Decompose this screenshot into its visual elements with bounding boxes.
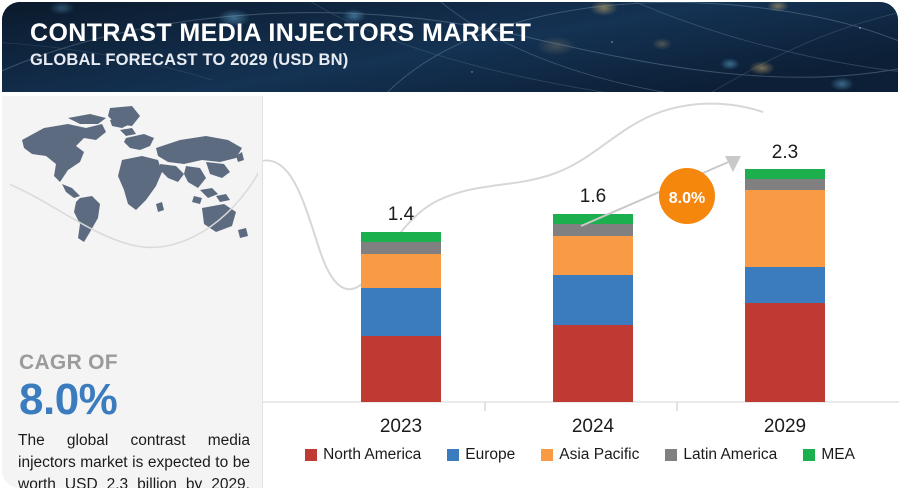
axis-label-2024: 2024 [572,416,615,437]
legend-swatch-latin-america [665,449,677,461]
bar-segment-asia-pacific-2029[interactable] [745,190,825,267]
cagr-value: 8.0% [19,378,117,422]
legend-item-asia-pacific[interactable]: Asia Pacific [541,446,639,464]
chart-panel: 1.4 2023 1.6 2024 2.3 2029 [262,96,899,488]
legend-label-europe: Europe [465,446,515,464]
bar-segment-mea-2023[interactable] [361,232,441,242]
bar-segment-asia-pacific-2023[interactable] [361,254,441,288]
bar-group-2023[interactable] [361,232,441,402]
world-map-icon [10,104,258,249]
bar-total-2029: 2.3 [772,142,798,163]
page-subtitle: GLOBAL FORECAST TO 2029 (USD BN) [30,51,531,70]
bar-segment-north-america-2023[interactable] [361,336,441,402]
bar-segment-north-america-2029[interactable] [745,303,825,402]
bar-total-2024: 1.6 [580,186,606,207]
bar-segment-latin-america-2029[interactable] [745,179,825,190]
chart-legend: North America Europe Asia Pacific Latin … [262,440,898,470]
bar-segment-asia-pacific-2024[interactable] [553,236,633,275]
legend-swatch-asia-pacific [541,449,553,461]
legend-item-latin-america[interactable]: Latin America [665,446,777,464]
legend-label-north-america: North America [323,446,421,464]
header-text-block: CONTRAST MEDIA INJECTORS MARKET GLOBAL F… [30,20,531,70]
legend-item-mea[interactable]: MEA [803,446,855,464]
stacked-bar-chart: 1.4 2023 1.6 2024 2.3 2029 [263,96,899,488]
cagr-bubble-label: 8.0% [669,190,705,207]
legend-item-north-america[interactable]: North America [305,446,421,464]
infographic-root: CONTRAST MEDIA INJECTORS MARKET GLOBAL F… [0,0,900,492]
axis-label-2023: 2023 [380,416,422,437]
bar-segment-latin-america-2024[interactable] [553,224,633,236]
legend-item-europe[interactable]: Europe [447,446,515,464]
legend-swatch-mea [803,449,815,461]
bar-group-2024[interactable] [553,214,633,402]
bar-segment-europe-2029[interactable] [745,267,825,303]
bar-segment-mea-2024[interactable] [553,214,633,224]
legend-label-mea: MEA [821,446,855,464]
summary-description: The global contrast media injectors mark… [18,430,250,488]
bar-total-2023: 1.4 [388,204,415,225]
bar-segment-europe-2023[interactable] [361,288,441,336]
bar-segment-europe-2024[interactable] [553,275,633,325]
summary-panel: CAGR OF 8.0% The global contrast media i… [2,96,262,488]
header-banner: CONTRAST MEDIA INJECTORS MARKET GLOBAL F… [2,2,898,92]
legend-swatch-europe [447,449,459,461]
bar-group-2029[interactable] [745,169,825,402]
page-title: CONTRAST MEDIA INJECTORS MARKET [30,20,531,48]
bar-segment-north-america-2024[interactable] [553,325,633,402]
bar-segment-mea-2029[interactable] [745,169,825,179]
legend-label-latin-america: Latin America [683,446,777,464]
axis-label-2029: 2029 [764,416,806,437]
world-map-graphic [10,104,258,249]
bar-segment-latin-america-2023[interactable] [361,242,441,254]
legend-label-asia-pacific: Asia Pacific [559,446,639,464]
legend-swatch-north-america [305,449,317,461]
cagr-label: CAGR OF [19,351,118,375]
